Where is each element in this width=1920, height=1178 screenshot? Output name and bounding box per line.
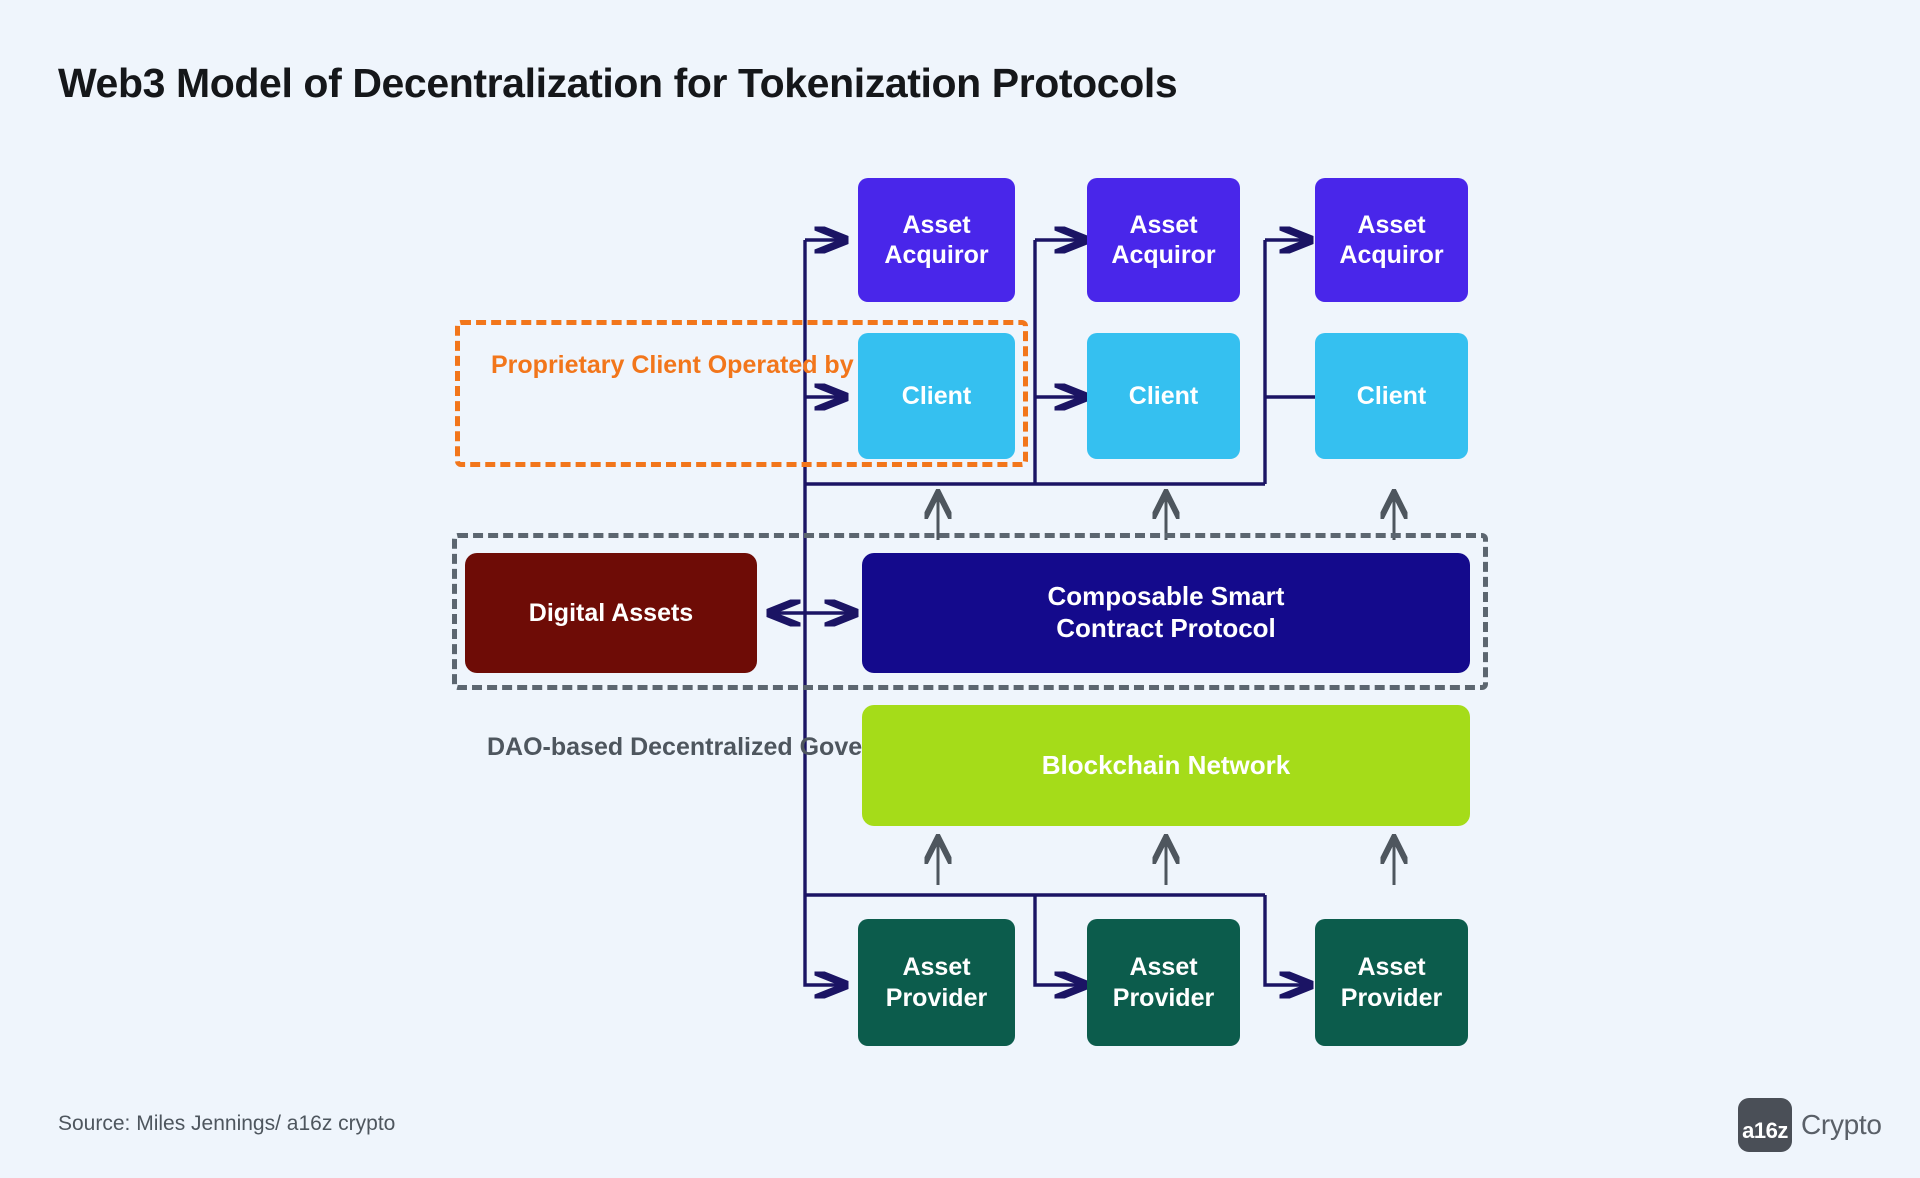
acquiror-1-line-1: Asset	[884, 210, 988, 241]
protocol-line-2: Contract Protocol	[1048, 613, 1285, 645]
node-asset-provider-3[interactable]: Asset Provider	[1315, 919, 1468, 1046]
node-asset-acquiror-1[interactable]: Asset Acquiror	[858, 178, 1015, 302]
node-composable-smart-contract-protocol[interactable]: Composable Smart Contract Protocol	[862, 553, 1470, 673]
node-asset-provider-1[interactable]: Asset Provider	[858, 919, 1015, 1046]
node-digital-assets[interactable]: Digital Assets	[465, 553, 757, 673]
node-blockchain-network[interactable]: Blockchain Network	[862, 705, 1470, 826]
governance-line-1: DAO-based	[487, 733, 623, 761]
protocol-line-1: Composable Smart	[1048, 581, 1285, 613]
blockchain-label: Blockchain Network	[1042, 750, 1291, 782]
proprietary-line-2: Operated by	[708, 351, 854, 379]
node-asset-provider-2[interactable]: Asset Provider	[1087, 919, 1240, 1046]
client-2-label: Client	[1129, 381, 1198, 412]
provider-1-line-1: Asset	[886, 952, 987, 983]
proprietary-line-1: Proprietary Client	[491, 351, 701, 379]
acquiror-3-line-2: Acquiror	[1339, 240, 1443, 271]
provider-1-line-2: Provider	[886, 983, 987, 1014]
diagram-canvas: Web3 Model of Decentralization for Token…	[0, 0, 1920, 1178]
node-asset-acquiror-2[interactable]: Asset Acquiror	[1087, 178, 1240, 302]
page-title: Web3 Model of Decentralization for Token…	[58, 60, 1177, 107]
node-client-1[interactable]: Client	[858, 333, 1015, 459]
node-asset-acquiror-3[interactable]: Asset Acquiror	[1315, 178, 1468, 302]
client-1-label: Client	[902, 381, 971, 412]
node-client-2[interactable]: Client	[1087, 333, 1240, 459]
provider-3-line-2: Provider	[1341, 983, 1442, 1014]
provider-3-line-1: Asset	[1341, 952, 1442, 983]
crypto-wordmark: Crypto	[1801, 1109, 1882, 1141]
acquiror-1-line-2: Acquiror	[884, 240, 988, 271]
a16z-crypto-logo: a16z Crypto	[1738, 1098, 1882, 1152]
node-client-3[interactable]: Client	[1315, 333, 1468, 459]
provider-2-line-1: Asset	[1113, 952, 1214, 983]
acquiror-2-line-2: Acquiror	[1111, 240, 1215, 271]
provider-2-line-2: Provider	[1113, 983, 1214, 1014]
acquiror-3-line-1: Asset	[1339, 210, 1443, 241]
digital-assets-label: Digital Assets	[529, 598, 693, 629]
governance-line-2: Decentralized	[630, 733, 793, 761]
client-3-label: Client	[1357, 381, 1426, 412]
acquiror-2-line-1: Asset	[1111, 210, 1215, 241]
source-note: Source: Miles Jennings/ a16z crypto	[58, 1112, 395, 1136]
a16z-mark: a16z	[1738, 1098, 1792, 1152]
